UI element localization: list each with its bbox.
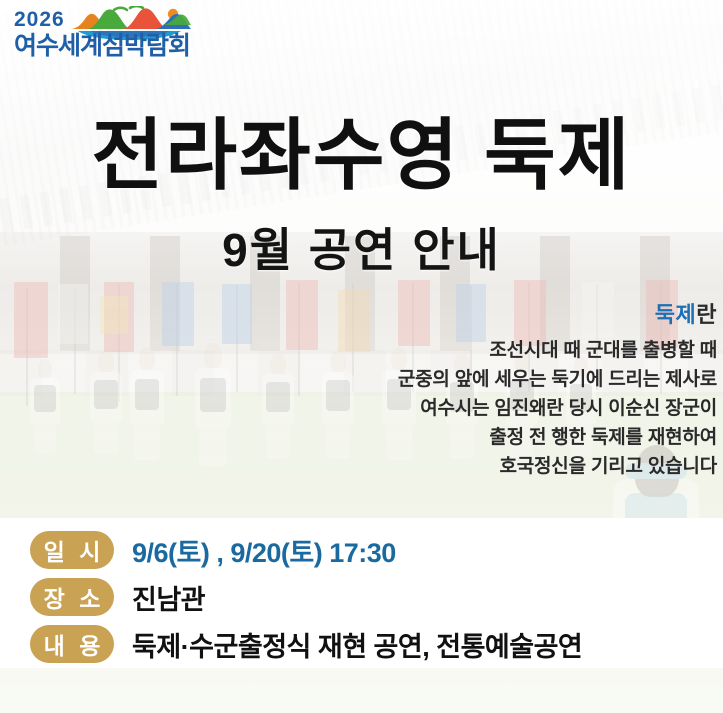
info-label-datetime: 일 시: [30, 531, 114, 569]
info-row-content: 내 용 둑제·수군출정식 재현 공연, 전통예술공연: [30, 624, 723, 664]
event-info-panel: 일 시 9/6(토) , 9/20(토) 17:30 장 소 진남관 내 용 둑…: [0, 518, 723, 668]
description-line: 호국정신을 기리고 있습니다: [197, 452, 717, 481]
info-value-datetime: 9/6(토) , 9/20(토) 17:30: [132, 531, 396, 570]
description-heading-keyword: 둑제: [655, 302, 696, 327]
info-label-location: 장 소: [30, 578, 114, 616]
info-value-content: 둑제·수군출정식 재현 공연, 전통예술공연: [132, 625, 582, 664]
logo-name: 여수세계섬박람회: [14, 32, 204, 61]
expo-logo: 2026 여수세계섬박람회: [8, 4, 208, 70]
description-block: 둑제란 조선시대 때 군대를 출병할 때 군중의 앞에 세우는 둑기에 드리는 …: [197, 300, 717, 481]
logo-year: 2026: [14, 8, 204, 32]
info-row-datetime: 일 시 9/6(토) , 9/20(토) 17:30: [30, 530, 723, 570]
poster-title: 전라좌수영 둑제: [0, 112, 723, 198]
description-line: 출정 전 행한 둑제를 재현하여: [197, 423, 717, 452]
info-value-location: 진남관: [132, 578, 205, 617]
description-line: 여수시는 임진왜란 당시 이순신 장군이: [197, 394, 717, 423]
poster-subtitle: 9월 공연 안내: [0, 222, 723, 278]
description-heading-tail: 란: [696, 302, 717, 327]
description-heading: 둑제란: [197, 300, 717, 330]
info-label-content: 내 용: [30, 625, 114, 663]
info-row-location: 장 소 진남관: [30, 577, 723, 617]
description-line: 군중의 앞에 세우는 둑기에 드리는 제사로: [197, 365, 717, 394]
description-line: 조선시대 때 군대를 출병할 때: [197, 336, 717, 365]
event-poster: 2026 여수세계섬박람회 전라좌수영 둑제 9월 공연 안내 둑제란 조선시대…: [0, 0, 723, 713]
